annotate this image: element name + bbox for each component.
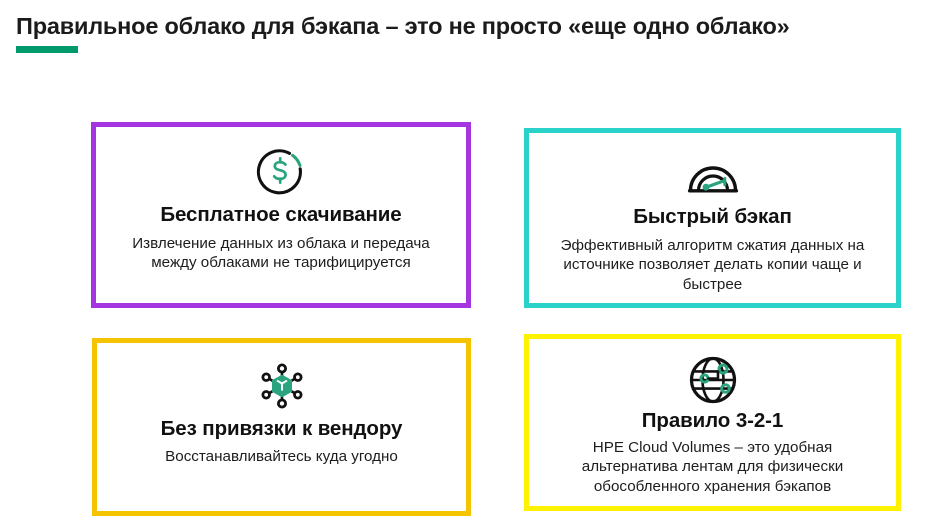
feature-card-grid: Бесплатное скачивание Извлечение данных … (0, 118, 937, 523)
card-body: Эффективный алгоритм сжатия данных на ис… (529, 236, 896, 296)
card-title: Бесплатное скачивание (160, 203, 401, 227)
speedometer-icon (685, 153, 741, 201)
slide-root: Правильное облако для бэкапа – это не пр… (0, 0, 937, 527)
title-accent-rule (16, 46, 78, 53)
card-body: Восстанавливайтесь куда угодно (149, 447, 414, 467)
globe-network-icon (685, 353, 741, 407)
feature-card-rule-321[interactable]: Правило 3-2-1 HPE Cloud Volumes – это уд… (524, 334, 901, 511)
feature-card-fast-backup[interactable]: Быстрый бэкап Эффективный алгоритм сжати… (524, 128, 901, 308)
card-body: Извлечение данных из облака и передача м… (96, 234, 466, 274)
card-title: Без привязки к вендору (161, 417, 403, 441)
card-title: Правило 3-2-1 (642, 409, 783, 433)
slide-header: Правильное облако для бэкапа – это не пр… (16, 13, 926, 53)
dollar-circle-icon (255, 145, 307, 199)
card-body: HPE Cloud Volumes – это удобная альтерна… (529, 438, 896, 498)
card-title: Быстрый бэкап (633, 205, 791, 229)
network-hub-icon (255, 359, 309, 413)
feature-card-no-vendor-lock-in[interactable]: Без привязки к вендору Восстанавливайтес… (92, 338, 471, 516)
feature-card-free-download[interactable]: Бесплатное скачивание Извлечение данных … (91, 122, 471, 308)
page-title: Правильное облако для бэкапа – это не пр… (16, 13, 926, 39)
